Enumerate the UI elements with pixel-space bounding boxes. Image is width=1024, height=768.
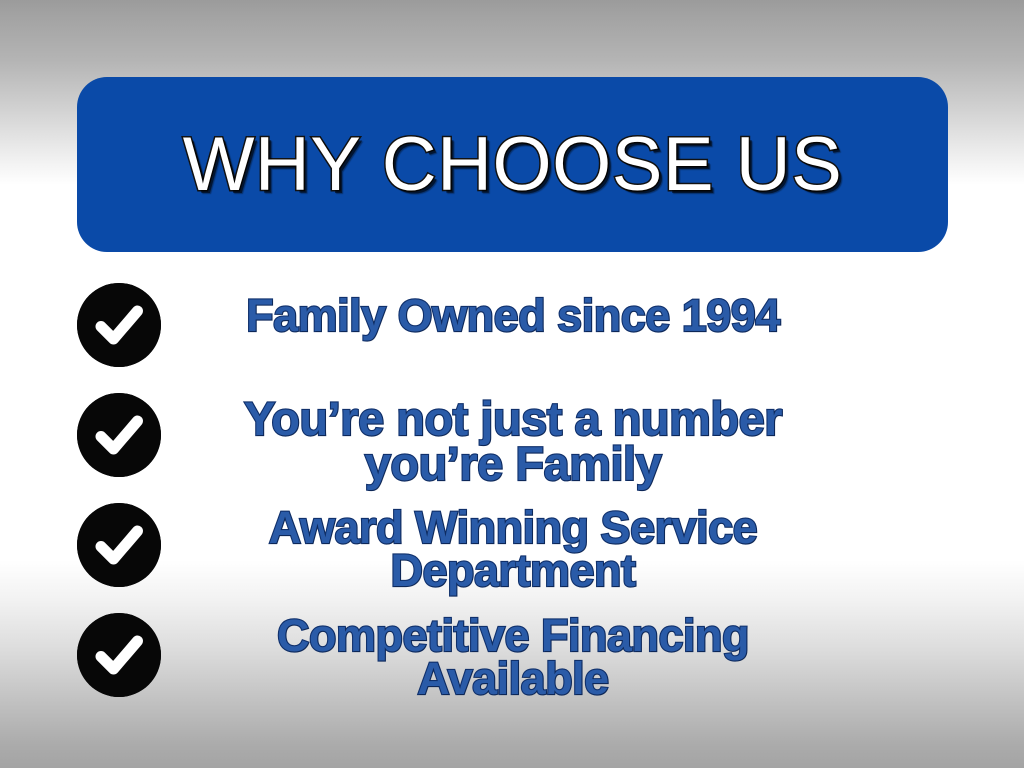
list-item-line: Department — [178, 549, 848, 592]
list-item: You’re not just a number you’re Family — [0, 382, 1024, 492]
title-banner: WHY CHOOSE US — [77, 77, 948, 252]
page-title: WHY CHOOSE US — [183, 127, 843, 203]
list-item-line: Competitive Financing — [178, 614, 848, 657]
list-item-line: You’re not just a number — [178, 396, 848, 441]
list-item: Family Owned since 1994 — [0, 272, 1024, 382]
check-circle-icon — [77, 503, 161, 587]
list-item-text: Award Winning Service Department — [178, 506, 848, 592]
list-item-line: Award Winning Service — [178, 506, 848, 549]
list-item-line: Available — [178, 657, 848, 700]
benefits-list: Family Owned since 1994 You’re not just … — [0, 272, 1024, 712]
slide-canvas: WHY CHOOSE US Family Owned since 1994 — [0, 0, 1024, 768]
check-circle-icon — [77, 393, 161, 477]
check-circle-icon — [77, 613, 161, 697]
list-item: Award Winning Service Department — [0, 492, 1024, 602]
list-item-text: Competitive Financing Available — [178, 614, 848, 700]
list-item: Competitive Financing Available — [0, 602, 1024, 712]
list-item-line: you’re Family — [178, 441, 848, 486]
check-circle-icon — [77, 283, 161, 367]
list-item-line: Family Owned since 1994 — [178, 294, 848, 337]
list-item-text: Family Owned since 1994 — [178, 294, 848, 337]
list-item-text: You’re not just a number you’re Family — [178, 396, 848, 486]
